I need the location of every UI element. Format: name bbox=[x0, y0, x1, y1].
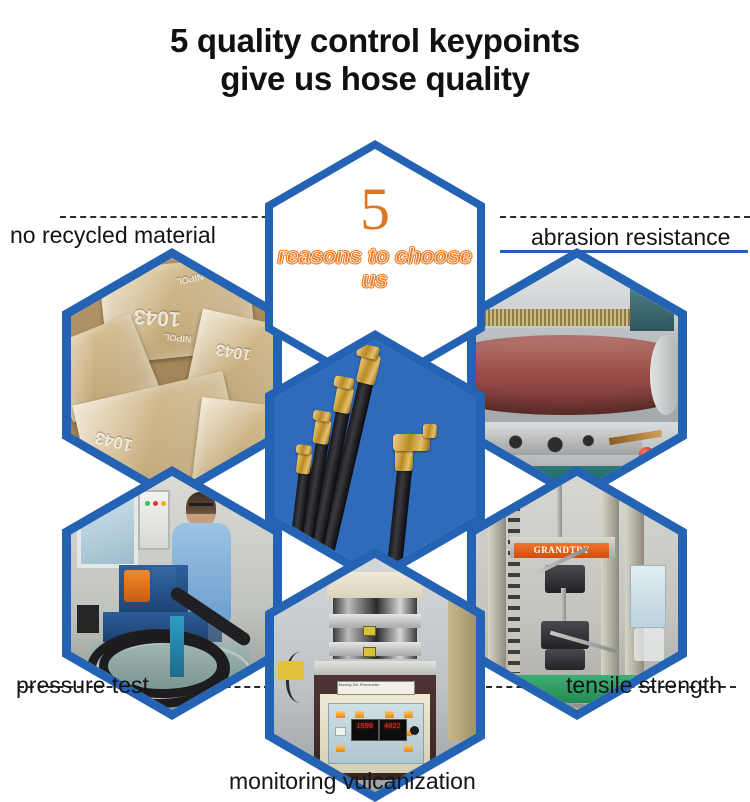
mill-roller bbox=[476, 335, 674, 415]
rheometer-nameplate-text: Moving Die Rheometer bbox=[339, 682, 380, 687]
infographic-root: 5 quality control keypoints give us hose… bbox=[0, 0, 750, 800]
dash-rule-top-left bbox=[60, 216, 298, 218]
dash-rule-top-right bbox=[500, 216, 750, 218]
panel-switch[interactable] bbox=[335, 727, 346, 736]
title-line-1: 5 quality control keypoints bbox=[170, 22, 580, 59]
bale-grade-text: 1043 bbox=[133, 303, 181, 330]
panel-button[interactable] bbox=[336, 745, 345, 752]
mill-comb-bar bbox=[480, 309, 632, 325]
panel-button[interactable] bbox=[355, 711, 364, 718]
hazard-label bbox=[363, 647, 376, 657]
keypoint-hex-no-recycled-material[interactable]: NIPOL 1043 NIPOL 1043 1043 bbox=[62, 248, 282, 502]
brass-fitting bbox=[332, 385, 354, 414]
indicator-led-amber bbox=[161, 501, 166, 506]
wall-chart bbox=[630, 565, 666, 628]
panel-button[interactable] bbox=[385, 711, 394, 718]
brass-fitting-nut bbox=[333, 376, 355, 391]
machine-brand-banner: GRANDTRY bbox=[514, 543, 609, 558]
load-base-block bbox=[545, 649, 585, 670]
keypoint-label-no-recycled-material: no recycled material bbox=[10, 222, 216, 249]
crimping-die-block bbox=[152, 567, 176, 607]
keypoint-hex-abrasion-resistance[interactable] bbox=[467, 248, 687, 502]
keypoint-label-pressure-test: pressure test bbox=[16, 672, 149, 699]
display-module-right: 4022 bbox=[379, 719, 407, 741]
hazard-label bbox=[363, 626, 376, 636]
control-cabinet bbox=[138, 490, 170, 550]
rheometer-control-panel: 1599 4022 bbox=[328, 703, 425, 764]
brass-elbow-nut bbox=[423, 424, 437, 438]
display-value-left: 1599 bbox=[356, 723, 373, 731]
blue-test-cylinder bbox=[170, 616, 184, 677]
panel-button[interactable] bbox=[336, 711, 345, 718]
mill-roller-end-cap bbox=[650, 335, 678, 415]
yellow-cable-loop bbox=[278, 661, 304, 680]
keypoint-label-tensile-strength: tensile strength bbox=[566, 672, 722, 699]
title-line-2: give us hose quality bbox=[0, 60, 750, 98]
crimping-machine-head bbox=[124, 570, 150, 603]
display-value-right: 4022 bbox=[384, 723, 401, 731]
indicator-led-red bbox=[153, 501, 158, 506]
panel-button[interactable] bbox=[404, 745, 413, 752]
reasons-tagline: reasons to choose us bbox=[273, 245, 477, 293]
panel-button[interactable] bbox=[404, 711, 413, 718]
keypoint-label-monitoring-vulcanization: monitoring vulcanization bbox=[229, 768, 476, 795]
indicator-led-green bbox=[145, 501, 150, 506]
keypoint-hex-monitoring-vulcanization[interactable]: Moving Die Rheometer 1599 4022 bbox=[265, 548, 485, 802]
safety-glasses bbox=[189, 503, 213, 506]
keypoint-label-abrasion-resistance: abrasion resistance bbox=[531, 224, 730, 251]
display-module-left: 1599 bbox=[351, 719, 379, 741]
page-title: 5 quality control keypoints give us hose… bbox=[0, 22, 750, 98]
workshop-window bbox=[77, 490, 138, 568]
product-hex-hydraulic-hoses[interactable] bbox=[265, 330, 485, 584]
plastic-bag bbox=[634, 628, 664, 661]
floor-equipment bbox=[77, 605, 99, 633]
